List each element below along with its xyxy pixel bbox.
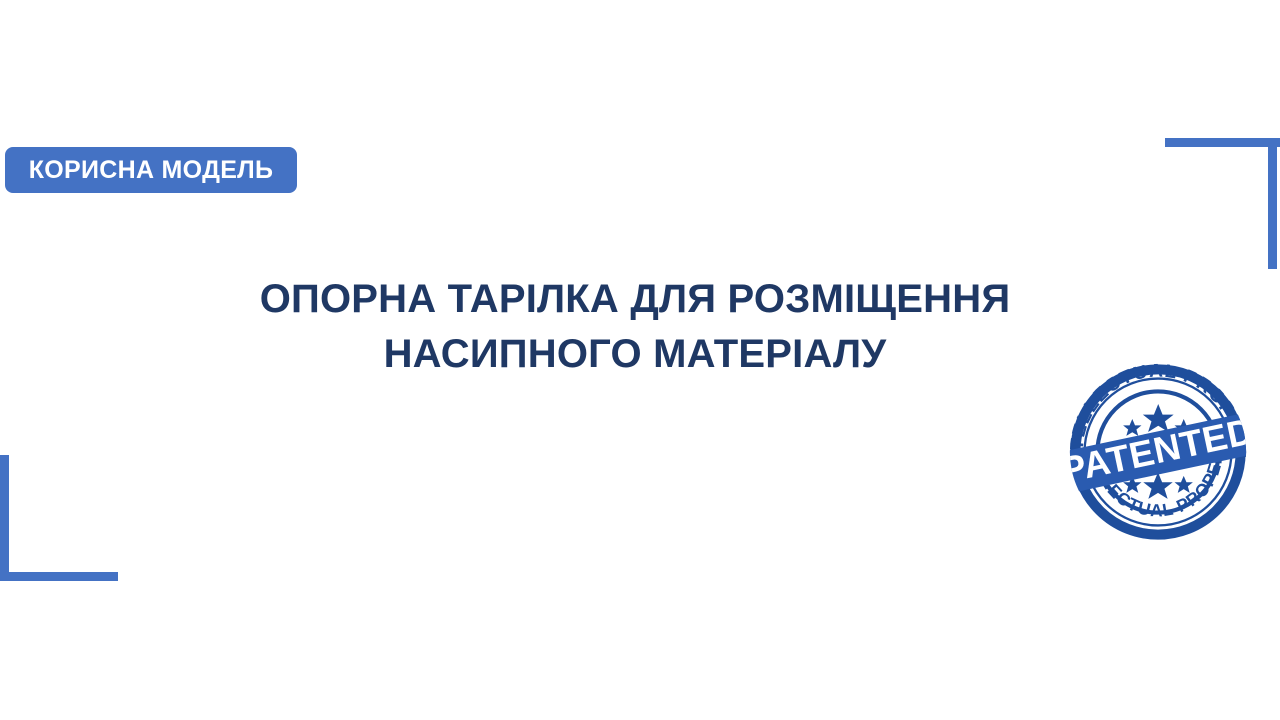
category-badge-label: КОРИСНА МОДЕЛЬ: [29, 158, 274, 183]
presentation-slide: КОРИСНА МОДЕЛЬ ОПОРНА ТАРІЛКА ДЛЯ РОЗМІЩ…: [0, 0, 1280, 720]
patented-stamp-icon: INTELLECTUAL PROPERTY INTELLECTUAL PROPE…: [1057, 347, 1259, 557]
slide-title-line-2: НАСИПНОГО МАТЕРІАЛУ: [135, 327, 1135, 382]
corner-bracket-top-right-vertical: [1268, 138, 1277, 269]
slide-title: ОПОРНА ТАРІЛКА ДЛЯ РОЗМІЩЕННЯ НАСИПНОГО …: [135, 272, 1135, 382]
corner-bracket-bottom-left-horizontal: [0, 572, 118, 581]
corner-bracket-top-right-horizontal: [1165, 138, 1280, 147]
corner-bracket-bottom-left-vertical: [0, 455, 9, 581]
category-badge: КОРИСНА МОДЕЛЬ: [5, 147, 297, 193]
slide-title-line-1: ОПОРНА ТАРІЛКА ДЛЯ РОЗМІЩЕННЯ: [135, 272, 1135, 327]
